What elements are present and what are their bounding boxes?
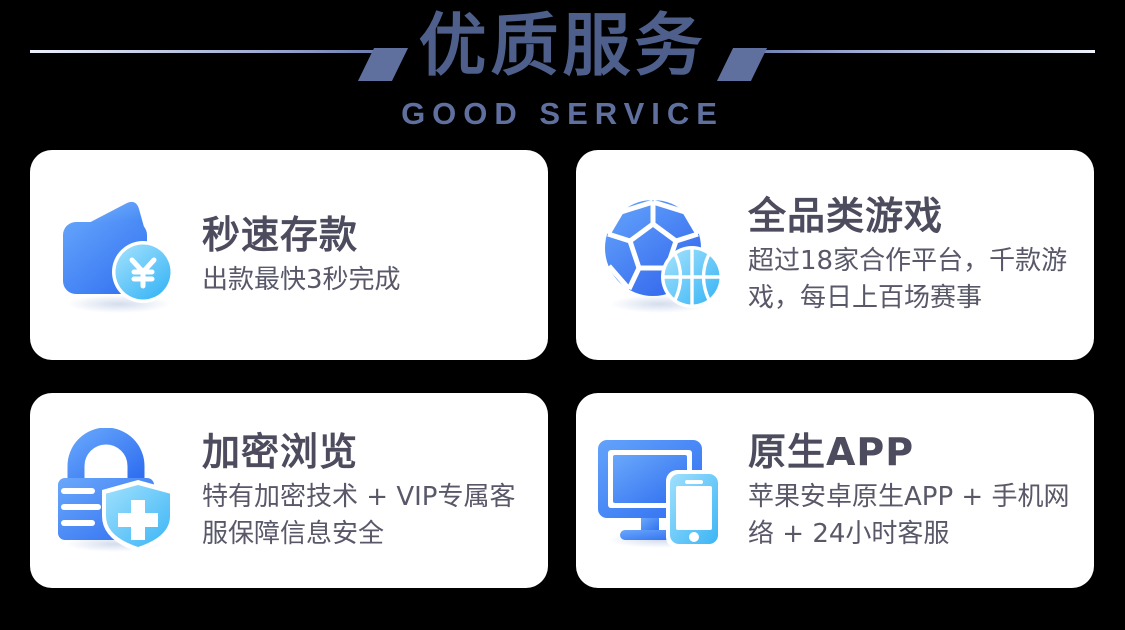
feature-card-deposit[interactable]: 秒速存款 出款最快3秒完成 [30,150,548,360]
card-description: 出款最快3秒完成 [202,262,401,299]
wallet-yen-icon [30,150,202,360]
promo-banner: 优质服务 GOOD SERVICE [0,0,1125,630]
soccer-basketball-icon [576,150,748,360]
card-title: 秒速存款 [202,212,401,258]
card-text: 秒速存款 出款最快3秒完成 [202,212,415,299]
card-description: 超过18家合作平台，千款游戏，每日上百场赛事 [748,243,1080,317]
monitor-phone-icon [576,393,748,588]
card-title: 加密浏览 [202,429,532,475]
feature-card-encryption[interactable]: 加密浏览 特有加密技术 + VIP专属客服保障信息安全 [30,393,548,588]
card-text: 原生APP 苹果安卓原生APP + 手机网络 + 24小时客服 [748,429,1094,553]
card-title: 全品类游戏 [748,193,1080,239]
card-description: 特有加密技术 + VIP专属客服保障信息安全 [202,479,532,553]
card-text: 全品类游戏 超过18家合作平台，千款游戏，每日上百场赛事 [748,193,1094,317]
header: 优质服务 GOOD SERVICE [0,0,1125,145]
card-description: 苹果安卓原生APP + 手机网络 + 24小时客服 [748,479,1080,553]
page-subtitle: GOOD SERVICE [0,96,1125,132]
lock-shield-icon [30,393,202,588]
card-text: 加密浏览 特有加密技术 + VIP专属客服保障信息安全 [202,429,546,553]
card-title: 原生APP [748,429,1080,475]
feature-card-native-app[interactable]: 原生APP 苹果安卓原生APP + 手机网络 + 24小时客服 [576,393,1094,588]
feature-card-games[interactable]: 全品类游戏 超过18家合作平台，千款游戏，每日上百场赛事 [576,150,1094,360]
page-title: 优质服务 [0,8,1125,86]
